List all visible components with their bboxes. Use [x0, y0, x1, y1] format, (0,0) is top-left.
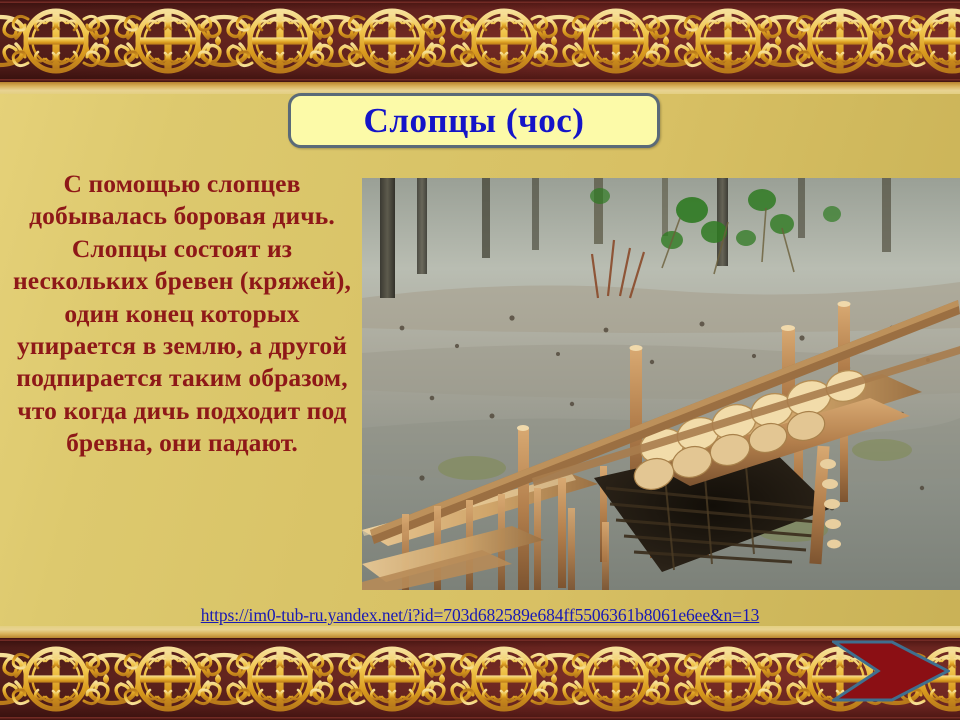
- ornamental-border-top: [0, 0, 960, 82]
- byzantine-cross-scroll-border-icon: [0, 638, 960, 720]
- next-slide-button[interactable]: [832, 640, 950, 702]
- border-transition-band-bottom: [0, 626, 960, 638]
- slide-body-text: С помощью слопцев добывалась боровая дич…: [6, 168, 358, 459]
- chevron-right-icon[interactable]: [832, 640, 950, 702]
- presentation-slide: Слопцы (чос) С помощью слопцев добывалас…: [0, 0, 960, 720]
- slide-photo: [362, 178, 960, 590]
- source-url-link[interactable]: https://im0-tub-ru.yandex.net/i?id=703d6…: [0, 605, 960, 626]
- forest-log-trap-photo: [362, 178, 960, 590]
- slide-title-box: Слопцы (чос): [288, 93, 660, 148]
- ornamental-border-bottom: [0, 638, 960, 720]
- page-title: Слопцы (чос): [364, 103, 585, 138]
- byzantine-cross-scroll-border-icon: [0, 0, 960, 82]
